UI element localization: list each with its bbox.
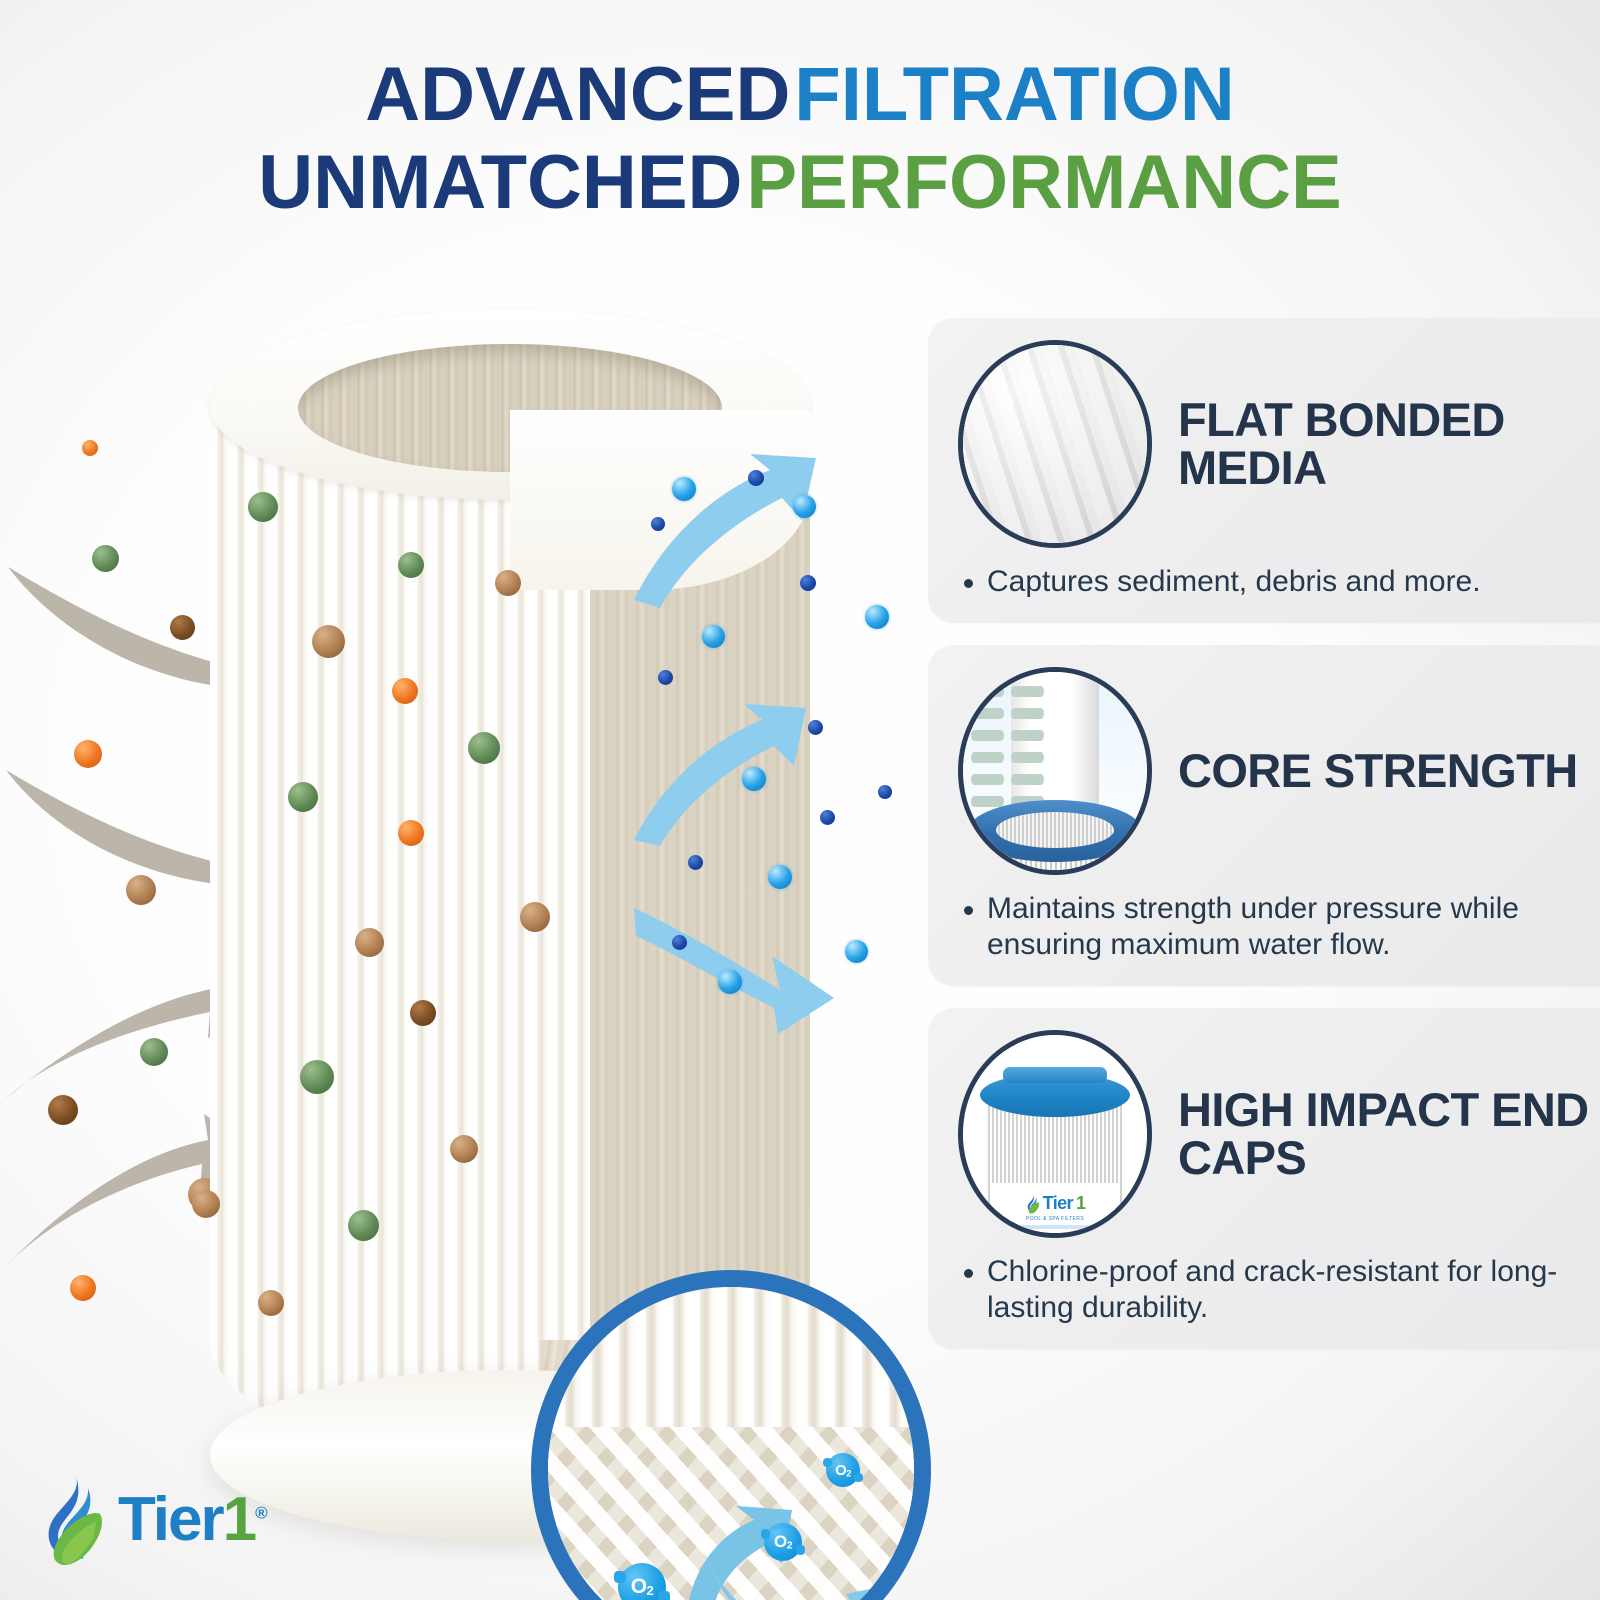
- cartridge-label-brand: Tier: [1043, 1193, 1073, 1214]
- particle-contaminant: [48, 1095, 78, 1125]
- particle-contaminant: [140, 1038, 168, 1066]
- card-title: HIGH IMPACT END CAPS: [1178, 1086, 1600, 1182]
- bullet-dot-icon: [964, 1269, 973, 1278]
- brand-logo: Tier1®: [36, 1474, 268, 1566]
- core-slot: [1011, 686, 1044, 697]
- woven-media-icon: [958, 340, 1152, 548]
- brand-wordmark: Tier1®: [118, 1489, 268, 1551]
- droplet-clean-water: [748, 470, 764, 486]
- particle-contaminant: [348, 1210, 379, 1241]
- card-bullet-text: Maintains strength under pressure while …: [987, 891, 1594, 964]
- tier1-droplet-leaf-icon: [1025, 1194, 1040, 1214]
- o2-molecule: O2: [764, 1523, 802, 1561]
- core-slot: [1011, 774, 1044, 785]
- particle-contaminant: [92, 545, 119, 572]
- core-slot: [971, 774, 1004, 785]
- droplet-clean-water: [688, 855, 703, 870]
- droplet-clean-water: [865, 605, 889, 629]
- cartridge-label-numeral: 1: [1076, 1193, 1085, 1214]
- outflow-arrow-3: [630, 890, 840, 1040]
- particle-contaminant: [258, 1290, 284, 1316]
- particle-contaminant: [126, 875, 156, 905]
- particle-contaminant: [398, 820, 424, 846]
- droplet-clean-water: [800, 575, 816, 591]
- particle-contaminant: [520, 902, 550, 932]
- core-slot: [971, 796, 1004, 807]
- headline-word-unmatched: UNMATCHED: [258, 140, 742, 225]
- droplet-clean-water: [793, 495, 816, 518]
- feature-card-flat-bonded-media[interactable]: FLAT BONDED MEDIA Captures sediment, deb…: [928, 318, 1600, 623]
- particle-contaminant: [468, 732, 500, 764]
- particle-contaminant: [288, 782, 318, 812]
- core-ring-opening: [996, 812, 1114, 848]
- core-slot: [971, 686, 1004, 697]
- filter-core-art: [963, 672, 1147, 870]
- core-slot: [1011, 752, 1044, 763]
- infographic-page: ADVANCED FILTRATION UNMATCHED PERFORMANC…: [0, 0, 1600, 1600]
- filter-core-icon: [958, 667, 1152, 875]
- particle-contaminant: [74, 740, 102, 768]
- feature-card-high-impact-end-caps[interactable]: Tier1 POOL & SPA FILTERS HIGH IMPACT END…: [928, 1008, 1600, 1349]
- magnifier-detail-circle: O2 O2 O2 O2: [531, 1270, 931, 1600]
- particle-contaminant: [450, 1135, 478, 1163]
- card-bullet-text: Chlorine-proof and crack-resistant for l…: [987, 1254, 1594, 1327]
- o2-molecule: O2: [826, 1453, 860, 1487]
- droplet-clean-water: [718, 970, 742, 994]
- particle-contaminant: [70, 1275, 96, 1301]
- headline-word-advanced: ADVANCED: [365, 52, 790, 137]
- particle-contaminant: [248, 492, 278, 522]
- card-bullet: Chlorine-proof and crack-resistant for l…: [928, 1238, 1600, 1327]
- registered-trademark-icon: ®: [255, 1503, 268, 1522]
- cartridge-end-cap-icon: Tier1 POOL & SPA FILTERS: [958, 1030, 1152, 1238]
- core-slot: [1011, 708, 1044, 719]
- filter-illustration: O2 O2 O2 O2: [0, 270, 920, 1600]
- cartridge-art: Tier1 POOL & SPA FILTERS: [963, 1035, 1147, 1233]
- cartridge-label-tagline: POOL & SPA FILTERS: [992, 1216, 1118, 1222]
- droplet-clean-water: [672, 477, 696, 501]
- page-title: ADVANCED FILTRATION UNMATCHED PERFORMANC…: [0, 58, 1600, 221]
- woven-media-art: [958, 340, 1152, 548]
- droplet-clean-water: [845, 940, 868, 963]
- droplet-clean-water: [672, 935, 687, 950]
- cartridge-brand-label: Tier1 POOL & SPA FILTERS: [992, 1183, 1118, 1229]
- card-bullet: Captures sediment, debris and more.: [928, 548, 1600, 601]
- particle-contaminant: [192, 1190, 220, 1218]
- core-slot: [1011, 730, 1044, 741]
- particle-contaminant: [82, 440, 98, 456]
- particle-contaminant: [398, 552, 424, 578]
- droplet-clean-water: [742, 767, 766, 791]
- particle-contaminant: [312, 625, 345, 658]
- headline-line-2: UNMATCHED PERFORMANCE: [0, 146, 1600, 220]
- particle-contaminant: [392, 678, 418, 704]
- particle-contaminant: [170, 615, 195, 640]
- outflow-arrow-2: [630, 700, 810, 850]
- droplet-clean-water: [768, 865, 792, 889]
- bullet-dot-icon: [964, 906, 973, 915]
- core-slot: [971, 730, 1004, 741]
- card-header: FLAT BONDED MEDIA: [928, 340, 1600, 548]
- headline-line-1: ADVANCED FILTRATION: [0, 58, 1600, 132]
- card-header: CORE STRENGTH: [928, 667, 1600, 875]
- magnifier-content: O2 O2 O2 O2: [548, 1287, 914, 1600]
- tier1-droplet-leaf-icon: [36, 1474, 106, 1566]
- card-title: CORE STRENGTH: [1178, 747, 1578, 795]
- droplet-clean-water: [820, 810, 835, 825]
- card-header: Tier1 POOL & SPA FILTERS HIGH IMPACT END…: [928, 1030, 1600, 1238]
- particle-contaminant: [410, 1000, 436, 1026]
- core-slot: [971, 708, 1004, 719]
- droplet-clean-water: [651, 517, 665, 531]
- card-title: FLAT BONDED MEDIA: [1178, 396, 1600, 492]
- headline-word-performance: PERFORMANCE: [746, 140, 1341, 225]
- particle-contaminant: [300, 1060, 334, 1094]
- droplet-clean-water: [658, 670, 673, 685]
- droplet-clean-water: [808, 720, 823, 735]
- card-bullet-text: Captures sediment, debris and more.: [987, 564, 1481, 601]
- droplet-clean-water: [702, 625, 725, 648]
- feature-card-list: FLAT BONDED MEDIA Captures sediment, deb…: [928, 318, 1600, 1349]
- cartridge-handle: [1003, 1067, 1107, 1083]
- droplet-clean-water: [878, 785, 892, 799]
- brand-name: Tier: [118, 1485, 223, 1554]
- headline-word-filtration: FILTRATION: [794, 52, 1234, 137]
- bullet-dot-icon: [964, 579, 973, 588]
- feature-card-core-strength[interactable]: CORE STRENGTH Maintains strength under p…: [928, 645, 1600, 986]
- core-slot: [971, 752, 1004, 763]
- brand-numeral: 1: [223, 1485, 255, 1554]
- particle-contaminant: [355, 928, 384, 957]
- card-bullet: Maintains strength under pressure while …: [928, 875, 1600, 964]
- particle-contaminant: [495, 570, 521, 596]
